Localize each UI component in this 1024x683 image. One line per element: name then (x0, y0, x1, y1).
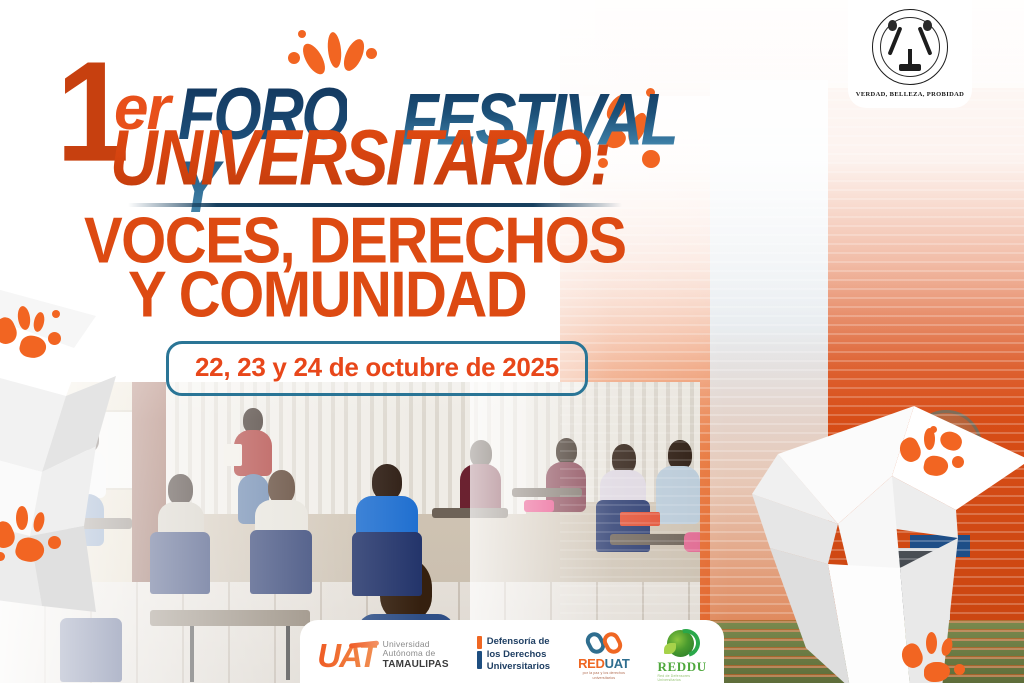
sponsor-logo-bar: UAT Universidad Autónoma de TAMAULIPAS D… (300, 620, 724, 683)
university-seal-icon (872, 9, 948, 85)
defensoria-line-3: Universitarios (487, 661, 550, 674)
orange-splash-icon (902, 630, 968, 683)
seal-flame-left (888, 20, 897, 31)
seal-flame-right (923, 20, 932, 31)
title-block: 1 er FORO Y FESTIVAL UNIVERSITARIO: VOCE… (0, 0, 700, 400)
event-poster: 1 er FORO Y FESTIVAL UNIVERSITARIO: VOCE… (0, 0, 1024, 683)
student-head (372, 464, 402, 500)
orange-splash-icon (900, 426, 970, 482)
defensoria-bar-blue (477, 651, 482, 669)
reddu-wordmark: REDDU (658, 660, 707, 673)
title-universitario: UNIVERSITARIO: (110, 117, 609, 196)
student-head (268, 470, 295, 504)
defensoria-line-2: los Derechos (487, 649, 550, 662)
defensoria-line-1: Defensoría de (487, 636, 550, 649)
defensoria-bars-icon (477, 636, 482, 674)
uat-wordmark-text: Universidad Autónoma de TAMAULIPAS (383, 640, 449, 670)
uat-line-3: TAMAULIPAS (383, 659, 449, 670)
reddu-tagline: Red de Defensores Universitarios (658, 674, 707, 682)
defensoria-text: Defensoría de los Derechos Universitario… (487, 636, 550, 674)
red-uat-tagline: por la paz y los derechos universitarios (578, 671, 629, 680)
subtitle-line-2: Y COMUNIDAD (128, 263, 526, 328)
student-head (556, 438, 577, 464)
student-head (470, 440, 492, 467)
seal-stem (908, 49, 912, 65)
logo-red-uat: REDUAT por la paz y los derechos univers… (578, 630, 629, 680)
logo-uat: UAT Universidad Autónoma de TAMAULIPAS (317, 639, 448, 672)
uat-seal-card: VERDAD, BELLEZA, PROBIDAD (848, 0, 972, 108)
reddu-globe-icon (664, 629, 700, 659)
seal-base (899, 64, 921, 71)
red-uat-links-icon (587, 630, 621, 656)
uat-letters: UAT (317, 639, 376, 672)
origami-dove-right-icon (742, 398, 1024, 683)
uat-swoosh-icon (348, 640, 378, 648)
event-date-badge: 22, 23 y 24 de octubre de 2025 (166, 341, 588, 396)
logo-reddu: REDDU Red de Defensores Universitarios (658, 629, 707, 682)
red-uat-wordmark: REDUAT (578, 657, 629, 670)
uat-line-2: Autónoma de (383, 649, 449, 659)
red-word-uat: UAT (605, 656, 630, 671)
defensoria-bar-orange (477, 636, 482, 649)
red-word-red: RED (578, 656, 605, 671)
logo-defensoria: Defensoría de los Derechos Universitario… (477, 636, 550, 674)
red-link-orange (600, 629, 625, 656)
student-torso (656, 466, 700, 524)
seal-motto: VERDAD, BELLEZA, PROBIDAD (856, 91, 964, 98)
orange-splash-icon (0, 504, 64, 570)
instructor-papers (224, 444, 242, 466)
origami-dove-right (742, 398, 1024, 683)
